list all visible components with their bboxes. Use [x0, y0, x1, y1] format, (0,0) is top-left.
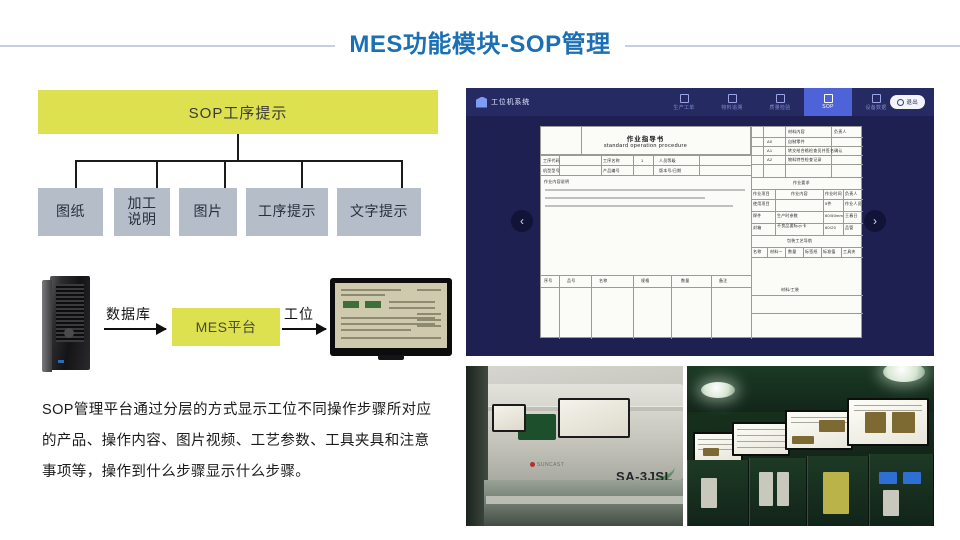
photo-b-blue-indicator-1 — [879, 472, 897, 484]
doc-p-content-1: 生产时参数 — [777, 213, 798, 219]
doc-b-c1: 序号 — [544, 278, 552, 284]
orgchart-leaf-label-2: 加工 说明 — [128, 196, 157, 227]
doc-line-v3 — [601, 155, 602, 175]
doc-p-content-2: 不良品要标示卡 — [777, 223, 806, 229]
app-logo-icon — [476, 97, 487, 108]
mes-flow-diagram: 数据库 MES平台 工位 — [20, 268, 450, 378]
clock-icon — [897, 99, 904, 106]
doc-r-line-h3 — [751, 164, 863, 165]
photo-b-monitor-2 — [732, 422, 790, 456]
app-nav-label-3: 质量检验 — [769, 104, 790, 111]
photo-b-blue-indicator-2 — [903, 472, 921, 484]
doc-q-line-h0 — [751, 257, 863, 258]
doc-left-line-1 — [541, 275, 751, 276]
doc-p-item-3: 封箱 — [753, 225, 761, 231]
workshop-displays-photo — [687, 366, 934, 526]
doc-field-1: 工序代码 — [543, 158, 560, 164]
doc-p-spec-2: 60/50mm — [825, 213, 843, 218]
doc-q-c4: 标签纸 — [805, 249, 818, 255]
doc-q-v2 — [785, 247, 786, 257]
right-media-column: 工位机系统 生产工单 物料追溯 质量检验 SOP — [460, 70, 960, 540]
doc-q-c2: 材料一 — [770, 249, 783, 255]
monitor-screen — [335, 283, 447, 348]
doc-q-v3 — [803, 247, 804, 257]
doc-left-v3 — [633, 275, 634, 339]
doc-row-content-3: 物料特性检查记录 — [788, 157, 822, 163]
orgchart-drop-line-1 — [75, 160, 77, 188]
doc-r-bottom-1 — [751, 295, 863, 296]
sop-description-text: SOP管理平台通过分层的方式显示工位不同操作步骤所对应的产品、操作内容、图片视频… — [42, 395, 442, 489]
orgchart-leaf-process-desc: 加工 说明 — [114, 188, 170, 236]
app-nav-label-2: 物料追溯 — [721, 104, 742, 111]
doc-p-owner-1: 作业人员 — [845, 201, 862, 207]
doc-left-line-2 — [541, 287, 751, 288]
doc-q-c3: 数量 — [788, 249, 796, 255]
sop-document-sheet: 作业指导书 standard operation procedure 工序代码 … — [540, 126, 862, 338]
doc-field-3: 1 — [641, 158, 643, 163]
doc-p-line-h3 — [751, 235, 863, 236]
doc-b-c3: 名称 — [599, 278, 607, 284]
orgchart-drop-line-3 — [224, 160, 226, 188]
page-header: MES功能模块-SOP管理 — [0, 0, 960, 70]
workstation-app-screenshot: 工位机系统 生产工单 物料追溯 质量检验 SOP — [466, 88, 934, 356]
next-chevron-icon: › — [873, 215, 877, 227]
doc-row-code-1: A0 — [767, 139, 772, 144]
app-nav-item-material-trace[interactable]: 物料追溯 — [708, 88, 756, 116]
doc-b-c4: 规格 — [641, 278, 649, 284]
orgchart-root-label: SOP工序提示 — [189, 102, 288, 123]
orgchart-drop-line-2 — [156, 160, 158, 188]
orgchart-drop-line-5 — [401, 160, 403, 188]
doc-left-v2 — [591, 275, 592, 339]
doc-sec-line-1 — [751, 189, 863, 190]
prev-page-button[interactable]: ‹ — [511, 210, 533, 232]
page-title: MES功能模块-SOP管理 — [0, 24, 960, 59]
document-title-cn: 作业指导书 — [627, 133, 665, 143]
flow-arrow-workstation — [282, 328, 326, 330]
orgchart-leaf-label-4: 工序提示 — [258, 204, 316, 220]
photo-b-lamp-1 — [701, 382, 735, 398]
doc-p-line-v0 — [775, 189, 776, 235]
photo-a-tablet-2 — [558, 398, 630, 438]
work-order-icon — [680, 94, 689, 103]
doc-p-line-v2 — [843, 189, 844, 235]
doc-row-content-2: 转交给合格检查员并签名确认 — [788, 148, 843, 154]
doc-p-line-h1 — [751, 211, 863, 212]
doc-r-line-h2 — [751, 155, 863, 156]
doc-field-5: 机型型号 — [543, 168, 560, 174]
doc-left-v5 — [711, 275, 712, 339]
server-badge — [64, 328, 74, 338]
orgchart-leaf-text-hint: 文字提示 — [337, 188, 421, 236]
doc-line-h3 — [541, 175, 751, 176]
photo-b-equipment-2 — [759, 472, 773, 506]
doc-row-content-1: 自制零件 — [788, 139, 805, 145]
doc-field-2: 工序名称 — [603, 158, 620, 164]
doc-p-item-1: 使用项目 — [753, 201, 770, 207]
app-navbar: 工位机系统 生产工单 物料追溯 质量检验 SOP — [466, 88, 934, 116]
orgchart-leaf-label-5: 文字提示 — [350, 204, 408, 220]
photo-b-cabinet-1 — [687, 460, 749, 526]
photo-b-equipment-1 — [701, 478, 717, 508]
doc-section-process: 包装工艺导航 — [787, 238, 812, 244]
doc-r-line-h4 — [751, 177, 863, 178]
photo-b-equipment-4 — [883, 490, 899, 516]
prev-chevron-icon: ‹ — [520, 215, 524, 227]
app-nav-item-sop[interactable]: SOP — [804, 88, 852, 116]
doc-p-spec-1: 5件 — [825, 201, 832, 207]
orgchart-leaf-label-3: 图片 — [194, 204, 223, 220]
sop-icon — [824, 94, 833, 103]
production-line-photo: SUNCAST SA-3JSL — [466, 366, 683, 526]
app-logo-label: 工位机系统 — [491, 97, 530, 107]
flow-arrow-database-label: 数据库 — [106, 304, 151, 324]
doc-line-v6 — [699, 155, 700, 175]
doc-row-code-2: A1 — [767, 148, 772, 153]
doc-left-v4 — [671, 275, 672, 339]
doc-left-v1 — [559, 275, 560, 339]
doc-line-v1 — [581, 127, 582, 155]
doc-field-6: 产品编号 — [603, 168, 620, 174]
document-title-cell: 作业指导书 standard operation procedure — [541, 127, 751, 155]
doc-r-line-h1 — [751, 146, 863, 147]
flow-arrow-database — [104, 328, 166, 330]
sop-orgchart: SOP工序提示 图纸 加工 说明 图片 工序提示 文字提示 — [38, 90, 438, 255]
doc-line-v4 — [633, 155, 634, 175]
doc-q-v5 — [841, 247, 842, 257]
doc-field-7: 版本号/日期 — [659, 168, 681, 174]
orgchart-drop-line-4 — [301, 160, 303, 188]
orgchart-bus-line — [75, 160, 402, 162]
photo-a-tablet-1 — [492, 404, 526, 432]
doc-section-params: 作业要求 — [793, 180, 810, 186]
orgchart-trunk-line — [237, 134, 239, 162]
orgchart-leaf-image: 图片 — [179, 188, 237, 236]
doc-q-v1 — [767, 247, 768, 257]
orgchart-leaf-label-1: 图纸 — [56, 204, 85, 220]
exit-button[interactable]: 退出 — [890, 95, 925, 109]
app-nav-label-5: 设备数据 — [865, 104, 886, 111]
mes-platform-label: MES平台 — [196, 317, 257, 337]
photo-b-monitor-4 — [847, 398, 929, 446]
doc-section-materials: 材料/工装 — [781, 287, 799, 293]
orgchart-root-node: SOP工序提示 — [38, 90, 438, 134]
doc-p-owner-2: 王春日 — [845, 213, 858, 219]
material-trace-icon — [728, 94, 737, 103]
app-nav-items: 生产工单 物料追溯 质量检验 SOP 设备数据 — [660, 88, 900, 116]
app-nav-item-work-order[interactable]: 生产工单 — [660, 88, 708, 116]
doc-p-line-h2 — [751, 223, 863, 224]
doc-p-owner-3: 品管 — [845, 225, 853, 231]
doc-p-col-4: 负责人 — [845, 191, 858, 197]
left-content-column: SOP工序提示 图纸 加工 说明 图片 工序提示 文字提示 数据库 MES平台 … — [0, 70, 460, 540]
doc-p-line-h0 — [751, 199, 863, 200]
doc-r-bottom-2 — [751, 313, 863, 314]
exit-button-label: 退出 — [906, 98, 918, 106]
doc-b-c6: 备注 — [719, 278, 727, 284]
doc-field-4: 人员等级 — [659, 158, 676, 164]
app-logo: 工位机系统 — [476, 97, 530, 108]
app-nav-label-4: SOP — [822, 104, 833, 110]
mes-platform-node: MES平台 — [172, 308, 280, 346]
photo-a-brand-label: SUNCAST — [530, 462, 564, 468]
doc-q-v4 — [821, 247, 822, 257]
photo-b-yellow-part — [823, 472, 849, 514]
next-page-button[interactable]: › — [864, 210, 886, 232]
doc-q-c5: 标准值 — [823, 249, 836, 255]
doc-p-col-3: 作业时间 — [825, 191, 842, 197]
photo-a-conveyor — [486, 496, 683, 504]
doc-row-code-3: A2 — [767, 157, 772, 162]
doc-note-label: 作业内容说明 — [544, 179, 569, 185]
doc-line-h2 — [541, 165, 751, 166]
doc-col-owner: 负责人 — [834, 129, 847, 135]
doc-r-line-h0 — [751, 137, 863, 138]
doc-p-item-2: 焊件 — [753, 213, 761, 219]
doc-col-content: 材料内容 — [788, 129, 805, 135]
orgchart-leaf-step-hint: 工序提示 — [246, 188, 328, 236]
monitor-stand — [378, 355, 404, 360]
app-nav-item-quality-check[interactable]: 质量检验 — [756, 88, 804, 116]
quality-check-icon — [776, 94, 785, 103]
photo-b-monitor-3 — [785, 410, 853, 450]
doc-p-line-v1 — [823, 189, 824, 235]
doc-b-c5: 数量 — [681, 278, 689, 284]
doc-p-spec-3: 60/20 — [825, 225, 836, 230]
workstation-monitor-icon — [330, 278, 452, 356]
app-nav-label-1: 生产工单 — [673, 104, 694, 111]
page-title-text: MES功能模块-SOP管理 — [335, 24, 624, 59]
doc-divider-main — [751, 127, 752, 339]
server-led — [58, 360, 64, 363]
doc-r-line-v0 — [763, 127, 764, 177]
doc-p-col-1: 作业项目 — [753, 191, 770, 197]
orgchart-leaf-drawing: 图纸 — [38, 188, 103, 236]
photo-b-equipment-3 — [777, 472, 789, 506]
doc-p-col-2: 作业内容 — [791, 191, 808, 197]
photo-b-cabinet-4 — [869, 454, 934, 526]
doc-line-v5 — [653, 155, 654, 175]
doc-q-c6: 工具夹 — [843, 249, 856, 255]
document-title-en: standard operation procedure — [604, 143, 687, 149]
doc-b-c2: 品号 — [567, 278, 575, 284]
device-data-icon — [872, 94, 881, 103]
flow-arrow-workstation-label: 工位 — [284, 304, 314, 324]
doc-line-h1 — [541, 155, 751, 156]
doc-q-c1: 名称 — [753, 249, 761, 255]
server-side-panel — [42, 280, 52, 372]
server-tower-icon — [42, 276, 98, 374]
doc-r-line-v1 — [785, 127, 786, 177]
